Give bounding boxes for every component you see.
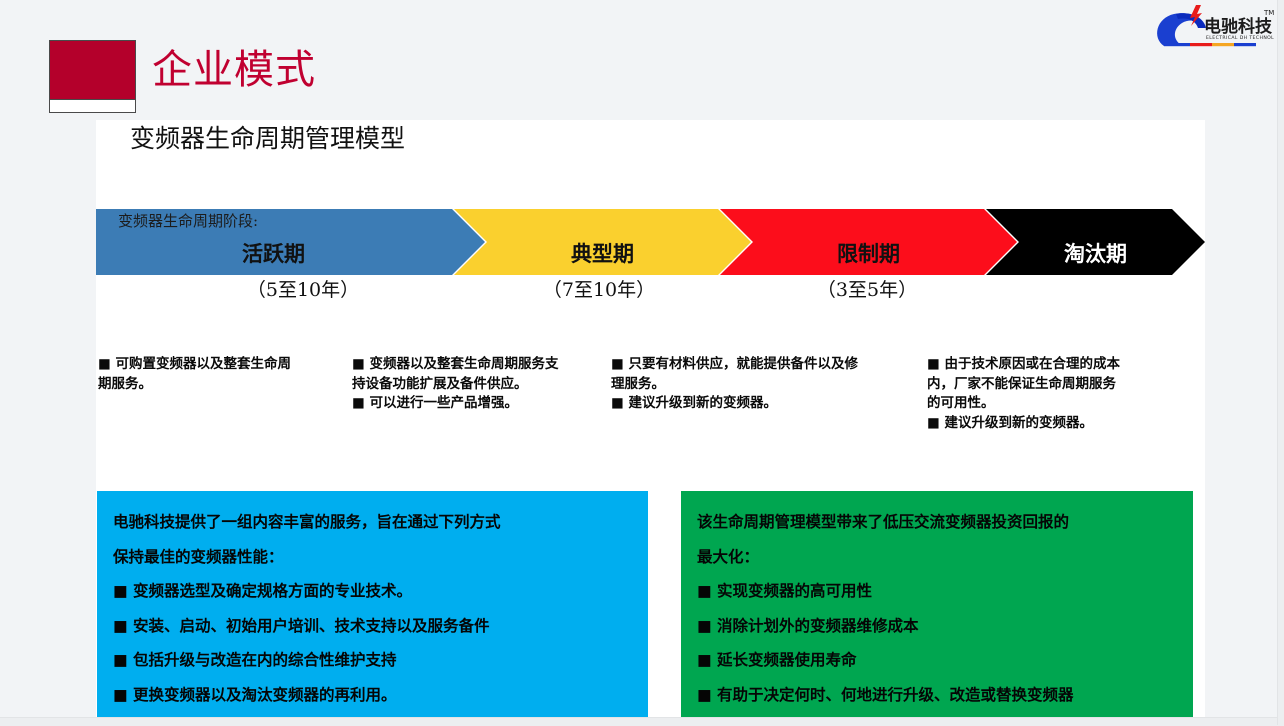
- chevron-stage-3-years: （3至5年）: [722, 277, 1012, 303]
- benefits-summary-bullet: ■ 实现变频器的高可用性: [697, 574, 1177, 609]
- stage-bullets-column-3: ■ 只要有材料供应，就能提供备件以及修 理服务。 ■ 建议升级到新的变频器。: [611, 355, 911, 414]
- company-logo: 电驰科技 TM ELECTRICAL DH TECHNOLOGY: [1146, 2, 1274, 54]
- title-accent-box-strip: [50, 99, 135, 112]
- chevron-stage-2-years: （7至10年）: [454, 277, 744, 303]
- benefits-summary-bullet: ■ 延长变频器使用寿命: [697, 643, 1177, 678]
- stage-bullets-column-1: ■ 可购置变频器以及整套生命周 期服务。: [98, 355, 344, 394]
- title-accent-box: [49, 40, 136, 113]
- chevron-stage-3-name: 限制期: [720, 240, 1017, 268]
- services-summary-bullet: ■ 包括升级与改造在内的综合性维护支持: [113, 643, 632, 678]
- bullet-line: ■ 建议升级到新的变频器。: [611, 394, 911, 414]
- chevron-stage-1-years: （5至10年）: [158, 277, 448, 303]
- chevron-stage-1: 变频器生命周期阶段: 活跃期: [96, 209, 485, 275]
- stage-bullet-columns: ■ 可购置变频器以及整套生命周 期服务。 ■ 变频器以及整套生命周期服务支 持设…: [96, 355, 1205, 480]
- svg-text:ELECTRICAL DH TECHNOLOGY: ELECTRICAL DH TECHNOLOGY: [1206, 35, 1274, 41]
- benefits-summary-line: 最大化：: [697, 540, 1177, 575]
- bullet-line: 内，厂家不能保证生命周期服务: [927, 375, 1177, 395]
- page-right-edge: [1277, 0, 1284, 725]
- benefits-summary-bullet: ■ 消除计划外的变频器维修成本: [697, 609, 1177, 644]
- services-summary-line: 保持最佳的变频器性能：: [113, 540, 632, 575]
- services-summary-bullet: ■ 安装、启动、初始用户培训、技术支持以及服务备件: [113, 609, 632, 644]
- benefits-summary-box: 该生命周期管理模型带来了低压交流变频器投资回报的 最大化： ■ 实现变频器的高可…: [681, 491, 1193, 717]
- bullet-line: 的可用性。: [927, 394, 1177, 414]
- bullet-line: 期服务。: [98, 375, 344, 395]
- content-panel: 变频器生命周期管理模型 变频器生命周期阶段: 活跃期 典型期: [96, 120, 1205, 717]
- chevron-stage-3: 限制期: [720, 209, 1017, 275]
- services-summary-line: 电驰科技提供了一组内容丰富的服务，旨在通过下列方式: [113, 505, 632, 540]
- chevron-stage-4-name: 淘汰期: [986, 240, 1205, 268]
- chevron-stage-4: 淘汰期: [986, 209, 1205, 275]
- stage-bullets-column-2: ■ 变频器以及整套生命周期服务支 持设备功能扩展及备件供应。 ■ 可以进行一些产…: [352, 355, 602, 414]
- page-title: 企业模式: [152, 44, 316, 96]
- services-summary-bullet: ■ 更换变频器以及淘汰变频器的再利用。: [113, 678, 632, 713]
- bullet-line: ■ 可购置变频器以及整套生命周: [98, 355, 344, 375]
- bullet-line: ■ 变频器以及整套生命周期服务支: [352, 355, 602, 375]
- section-heading: 变频器生命周期管理模型: [130, 122, 405, 156]
- bullet-line: ■ 建议升级到新的变频器。: [927, 414, 1177, 434]
- chevron-stage-2: 典型期: [454, 209, 751, 275]
- services-summary-bullet: ■ 变频器选型及确定规格方面的专业技术。: [113, 574, 632, 609]
- bullet-line: ■ 由于技术原因或在合理的成本: [927, 355, 1177, 375]
- bullet-line: ■ 可以进行一些产品增强。: [352, 394, 602, 414]
- benefits-summary-bullet: ■ 有助于决定何时、何地进行升级、改造或替换变频器: [697, 678, 1177, 713]
- benefits-summary-line: 该生命周期管理模型带来了低压交流变频器投资回报的: [697, 505, 1177, 540]
- bullet-line: 持设备功能扩展及备件供应。: [352, 375, 602, 395]
- svg-text:TM: TM: [1263, 9, 1274, 17]
- chevron-stage-2-name: 典型期: [454, 240, 751, 268]
- chevron-stage-1-name: 活跃期: [62, 240, 485, 268]
- services-summary-box: 电驰科技提供了一组内容丰富的服务，旨在通过下列方式 保持最佳的变频器性能： ■ …: [97, 491, 648, 717]
- bullet-line: ■ 只要有材料供应，就能提供备件以及修: [611, 355, 911, 375]
- stage-bullets-column-4: ■ 由于技术原因或在合理的成本 内，厂家不能保证生命周期服务 的可用性。 ■ 建…: [927, 355, 1177, 433]
- bullet-line: 理服务。: [611, 375, 911, 395]
- svg-text:电驰科技: 电驰科技: [1204, 16, 1273, 37]
- lifecycle-chevron-band: 变频器生命周期阶段: 活跃期 典型期 限制期: [96, 209, 1205, 275]
- chevron-stage-label: 变频器生命周期阶段:: [118, 211, 258, 231]
- slide-canvas: 企业模式 电驰科技 TM ELECTRICAL DH TECHNOLOGY: [0, 0, 1284, 725]
